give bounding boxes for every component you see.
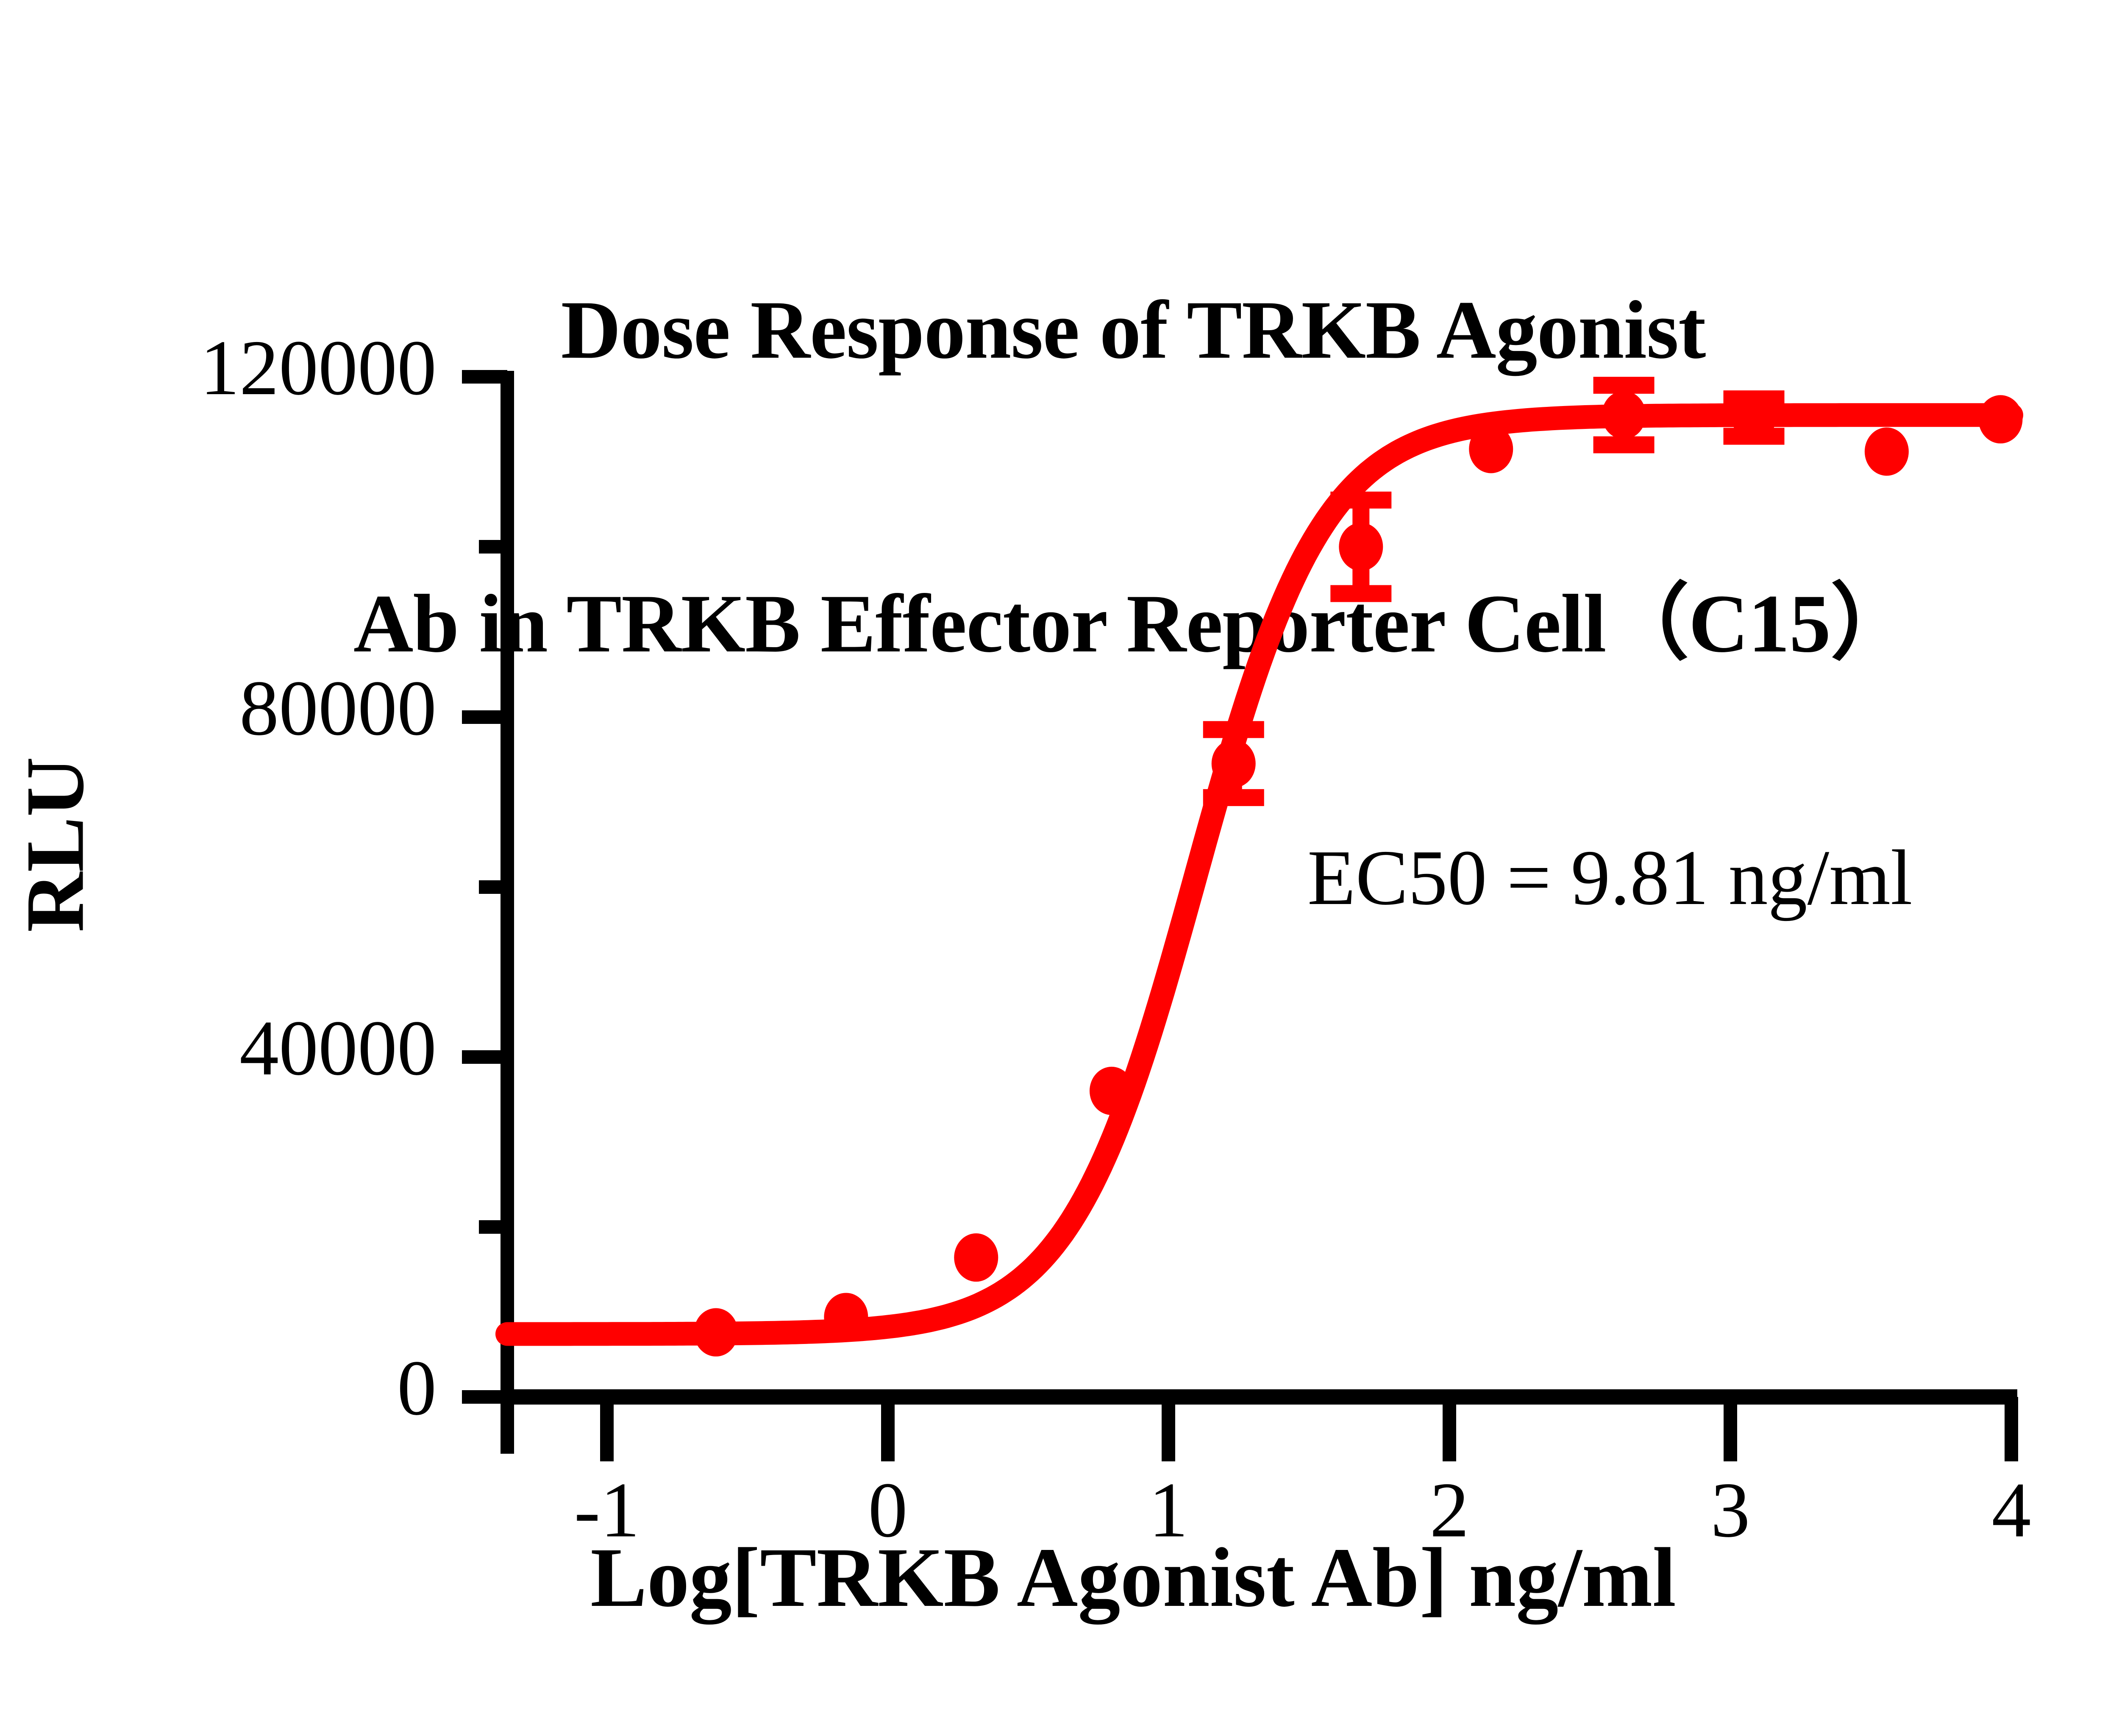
y-tick-label-120000: 120000	[85, 328, 437, 407]
data-point-marker	[1865, 428, 1909, 476]
y-tick-label-80000: 80000	[85, 669, 437, 748]
x-axis-ticks	[607, 1404, 2011, 1461]
data-point-marker	[1090, 1067, 1134, 1115]
data-point-marker	[1602, 391, 1646, 439]
y-tick-label-40000: 40000	[85, 1009, 437, 1088]
y-axis-ticks	[462, 377, 507, 1397]
data-point-marker	[824, 1293, 868, 1341]
y-tick-label-0: 0	[85, 1349, 437, 1427]
ec50-annotation: EC50 = 9.81 ng/ml	[1307, 838, 1913, 917]
chart-figure: Dose Response of TRKB Agonist Ab in TRKB…	[0, 0, 2119, 1736]
data-point-marker	[954, 1233, 998, 1282]
data-point-marker	[1212, 740, 1256, 788]
data-point-marker	[694, 1308, 738, 1357]
data-point-marker	[1469, 425, 1513, 473]
y-axis-title: RLU	[8, 675, 103, 1014]
x-axis-title: Log[TRKB Agonist Ab] ng/ml	[0, 1529, 2119, 1626]
data-point-marker	[1978, 395, 2022, 443]
data-point-marker	[1732, 393, 1776, 442]
data-point-marker	[1339, 523, 1383, 571]
